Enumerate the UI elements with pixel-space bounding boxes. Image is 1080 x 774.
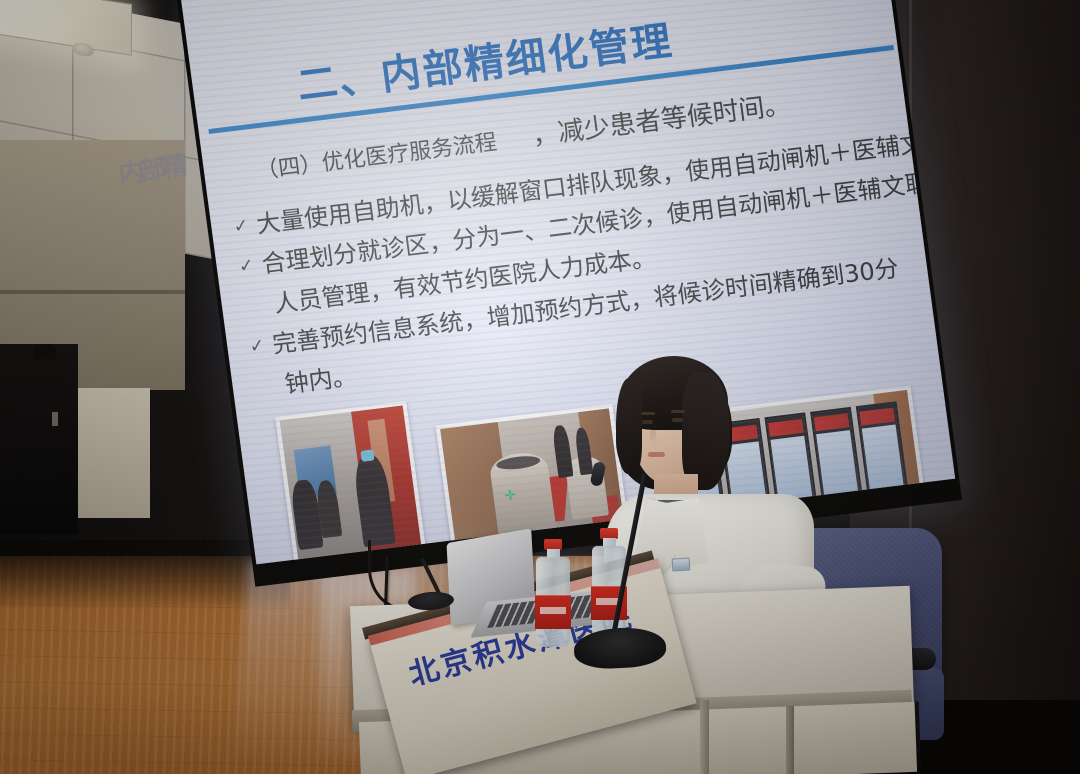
equipment-indicator-light [52, 412, 58, 426]
projection-screen: 二、内部精细化管理 （四）优化医疗服务流程 ，减少患者等候时间。 ✓ 大量使用自… [176, 0, 962, 587]
kiosk-header [860, 408, 896, 426]
hair-side [682, 372, 730, 490]
nose [650, 430, 656, 444]
kiosk-body [862, 424, 904, 489]
eye [672, 418, 683, 422]
person-silhouette [551, 424, 573, 478]
eyebrow [641, 412, 655, 415]
check-icon: ✓ [231, 208, 250, 241]
name-badge [672, 557, 691, 571]
slide-subheading-tail: ，减少患者等候时间。 [529, 84, 792, 152]
photo-content [280, 405, 422, 561]
eyebrow [671, 410, 685, 413]
water-bottle[interactable] [536, 539, 570, 647]
mouth [648, 452, 665, 457]
equipment-silhouette [0, 344, 78, 534]
desk-leg [700, 700, 709, 774]
slide-subheading: （四）优化医疗服务流程 [254, 124, 498, 185]
bottle-label [535, 595, 571, 629]
slide-surface: 二、内部精细化管理 （四）优化医疗服务流程 ，减少患者等候时间。 ✓ 大量使用自… [181, 0, 955, 564]
green-pass-indicator-icon: ✛ [503, 489, 518, 503]
check-icon: ✓ [237, 248, 256, 281]
camera-stand [42, 358, 49, 418]
eye [642, 420, 653, 424]
face-mask [360, 449, 375, 462]
desk-leg [786, 706, 794, 774]
hair-side [616, 378, 642, 474]
presentation-room-scene: 内部精 二、内部精细化管理 （四）优化医疗服务流程 ，减少患者等候时间。 ✓ 大… [0, 0, 1080, 774]
check-icon: ✓ [247, 328, 266, 361]
